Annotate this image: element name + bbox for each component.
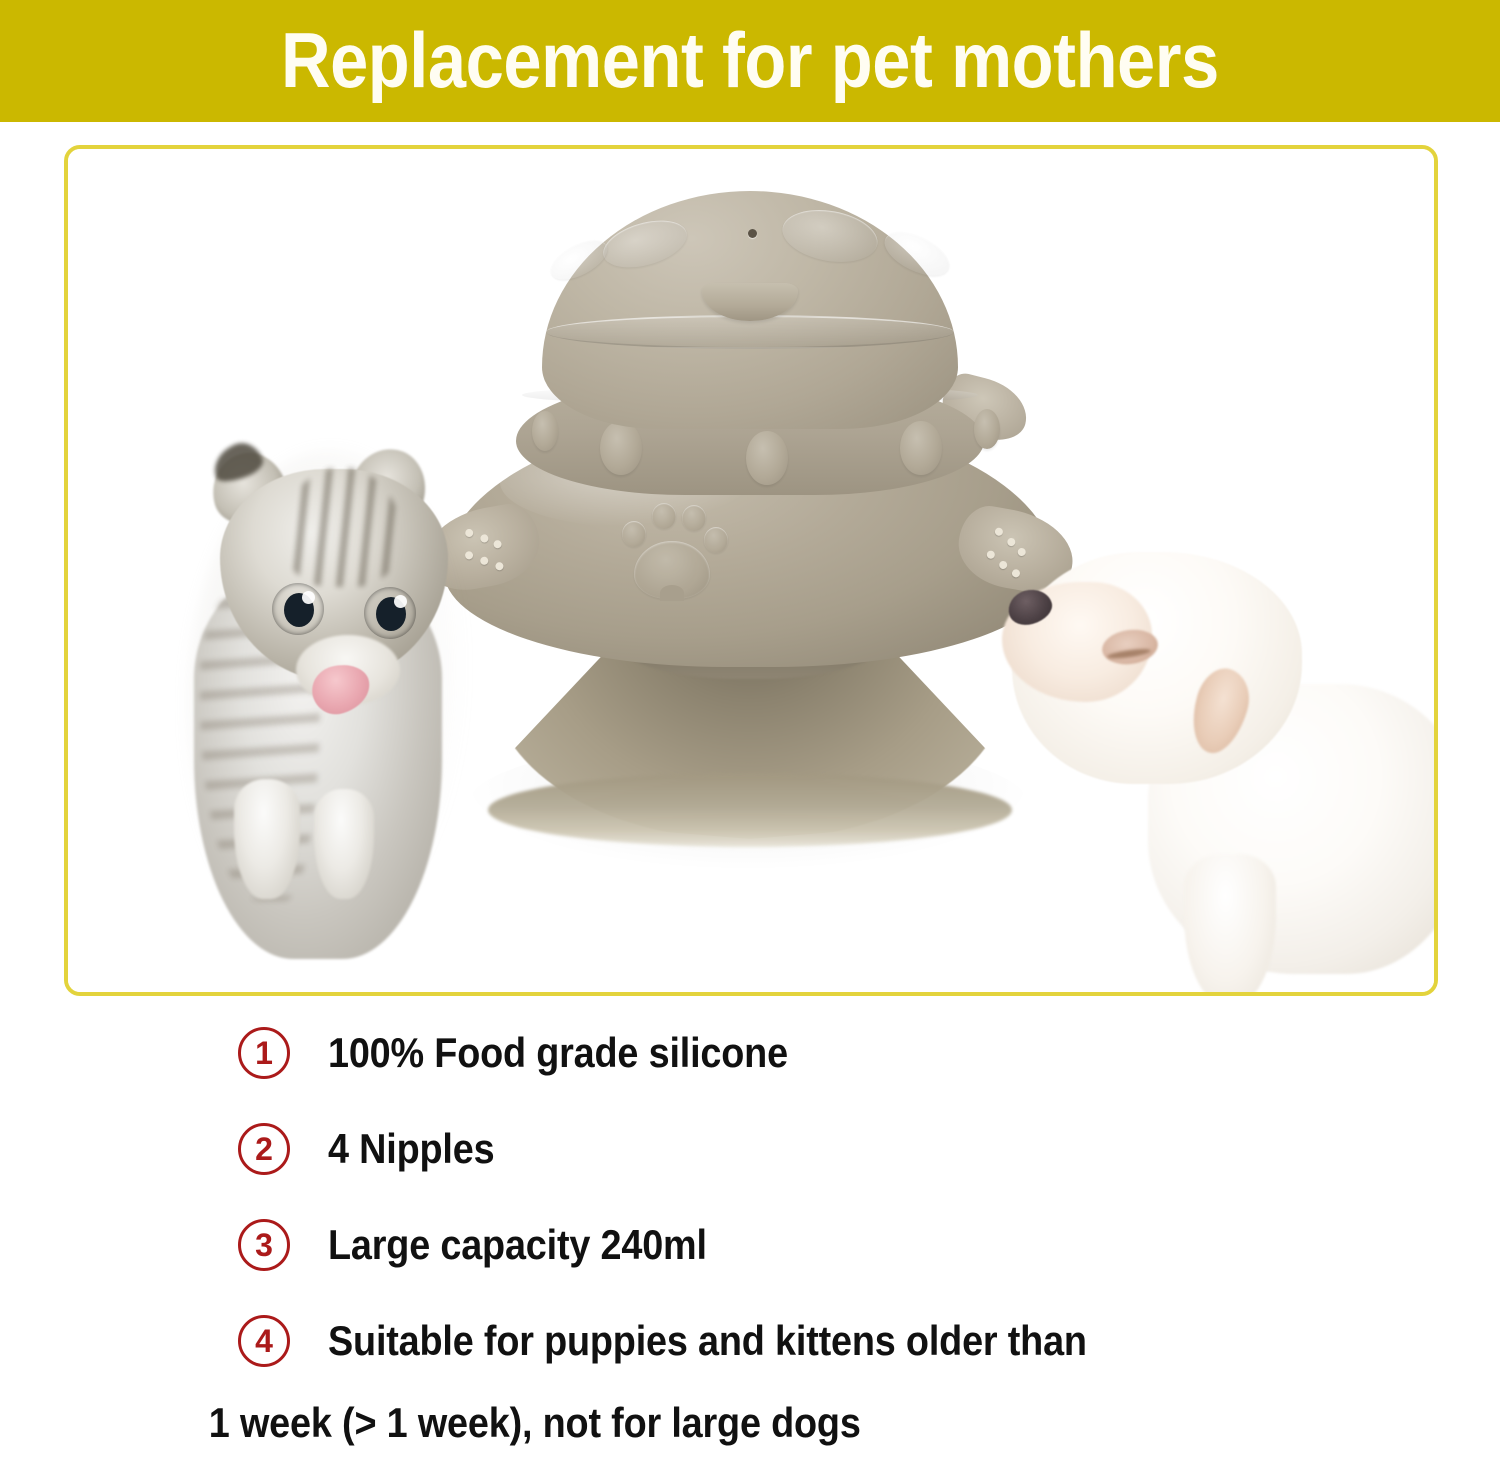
feature-list: 1 100% Food grade silicone 2 4 Nipples 3… xyxy=(0,1005,1500,1447)
feature-number-badge-3: 3 xyxy=(238,1219,290,1271)
page-title: Replacement for pet mothers xyxy=(281,21,1219,99)
lid-air-vent-hole xyxy=(748,229,757,238)
feature-item-1: 1 100% Food grade silicone xyxy=(0,1005,1500,1101)
feature-item-2: 2 4 Nipples xyxy=(0,1101,1500,1197)
kitten-front-paw-right xyxy=(314,789,374,899)
nipple-nub xyxy=(495,562,504,571)
paw-print-emboss-front xyxy=(616,499,728,603)
paw-main-pad xyxy=(634,541,710,599)
product-photo-stage xyxy=(68,149,1434,992)
kitten-photo xyxy=(186,349,486,969)
feature-number-badge-1: 1 xyxy=(238,1027,290,1079)
puppy-front-leg xyxy=(1184,854,1276,996)
kitten-eye-glint-right xyxy=(394,595,407,608)
feature-label-2: 4 Nipples xyxy=(328,1125,494,1173)
band-bump-4 xyxy=(900,421,942,475)
paw-toe-1 xyxy=(622,521,646,547)
kitten-eye-left xyxy=(272,583,324,635)
feature-label-4-continued: 1 week (> 1 week), not for large dogs xyxy=(0,1399,1350,1447)
feature-number-badge-2: 2 xyxy=(238,1123,290,1175)
header-banner: Replacement for pet mothers xyxy=(0,0,1500,122)
paw-toe-4 xyxy=(704,527,728,553)
kitten-eye-glint-left xyxy=(302,591,315,604)
paw-toe-2 xyxy=(652,503,676,529)
feature-label-3: Large capacity 240ml xyxy=(328,1221,707,1269)
kitten-front-paw-left xyxy=(234,779,300,899)
product-image xyxy=(430,179,1070,899)
feature-number-badge-4: 4 xyxy=(238,1315,290,1367)
nipple-nub xyxy=(493,540,502,549)
kitten-eye-right xyxy=(364,587,416,639)
nipple-nub xyxy=(986,550,995,559)
band-bump-2 xyxy=(600,421,642,475)
band-bump-3 xyxy=(746,431,788,485)
product-base-rim xyxy=(488,773,1012,847)
band-bump-1 xyxy=(532,411,558,451)
product-photo-frame xyxy=(64,145,1438,996)
paw-toe-3 xyxy=(682,505,706,531)
feature-label-4: Suitable for puppies and kittens older t… xyxy=(328,1317,1087,1365)
feature-item-4: 4 Suitable for puppies and kittens older… xyxy=(0,1293,1500,1389)
band-bump-5 xyxy=(974,409,1000,449)
puppy-photo xyxy=(998,534,1438,996)
feature-label-1: 100% Food grade silicone xyxy=(328,1029,788,1077)
feature-item-3: 3 Large capacity 240ml xyxy=(0,1197,1500,1293)
